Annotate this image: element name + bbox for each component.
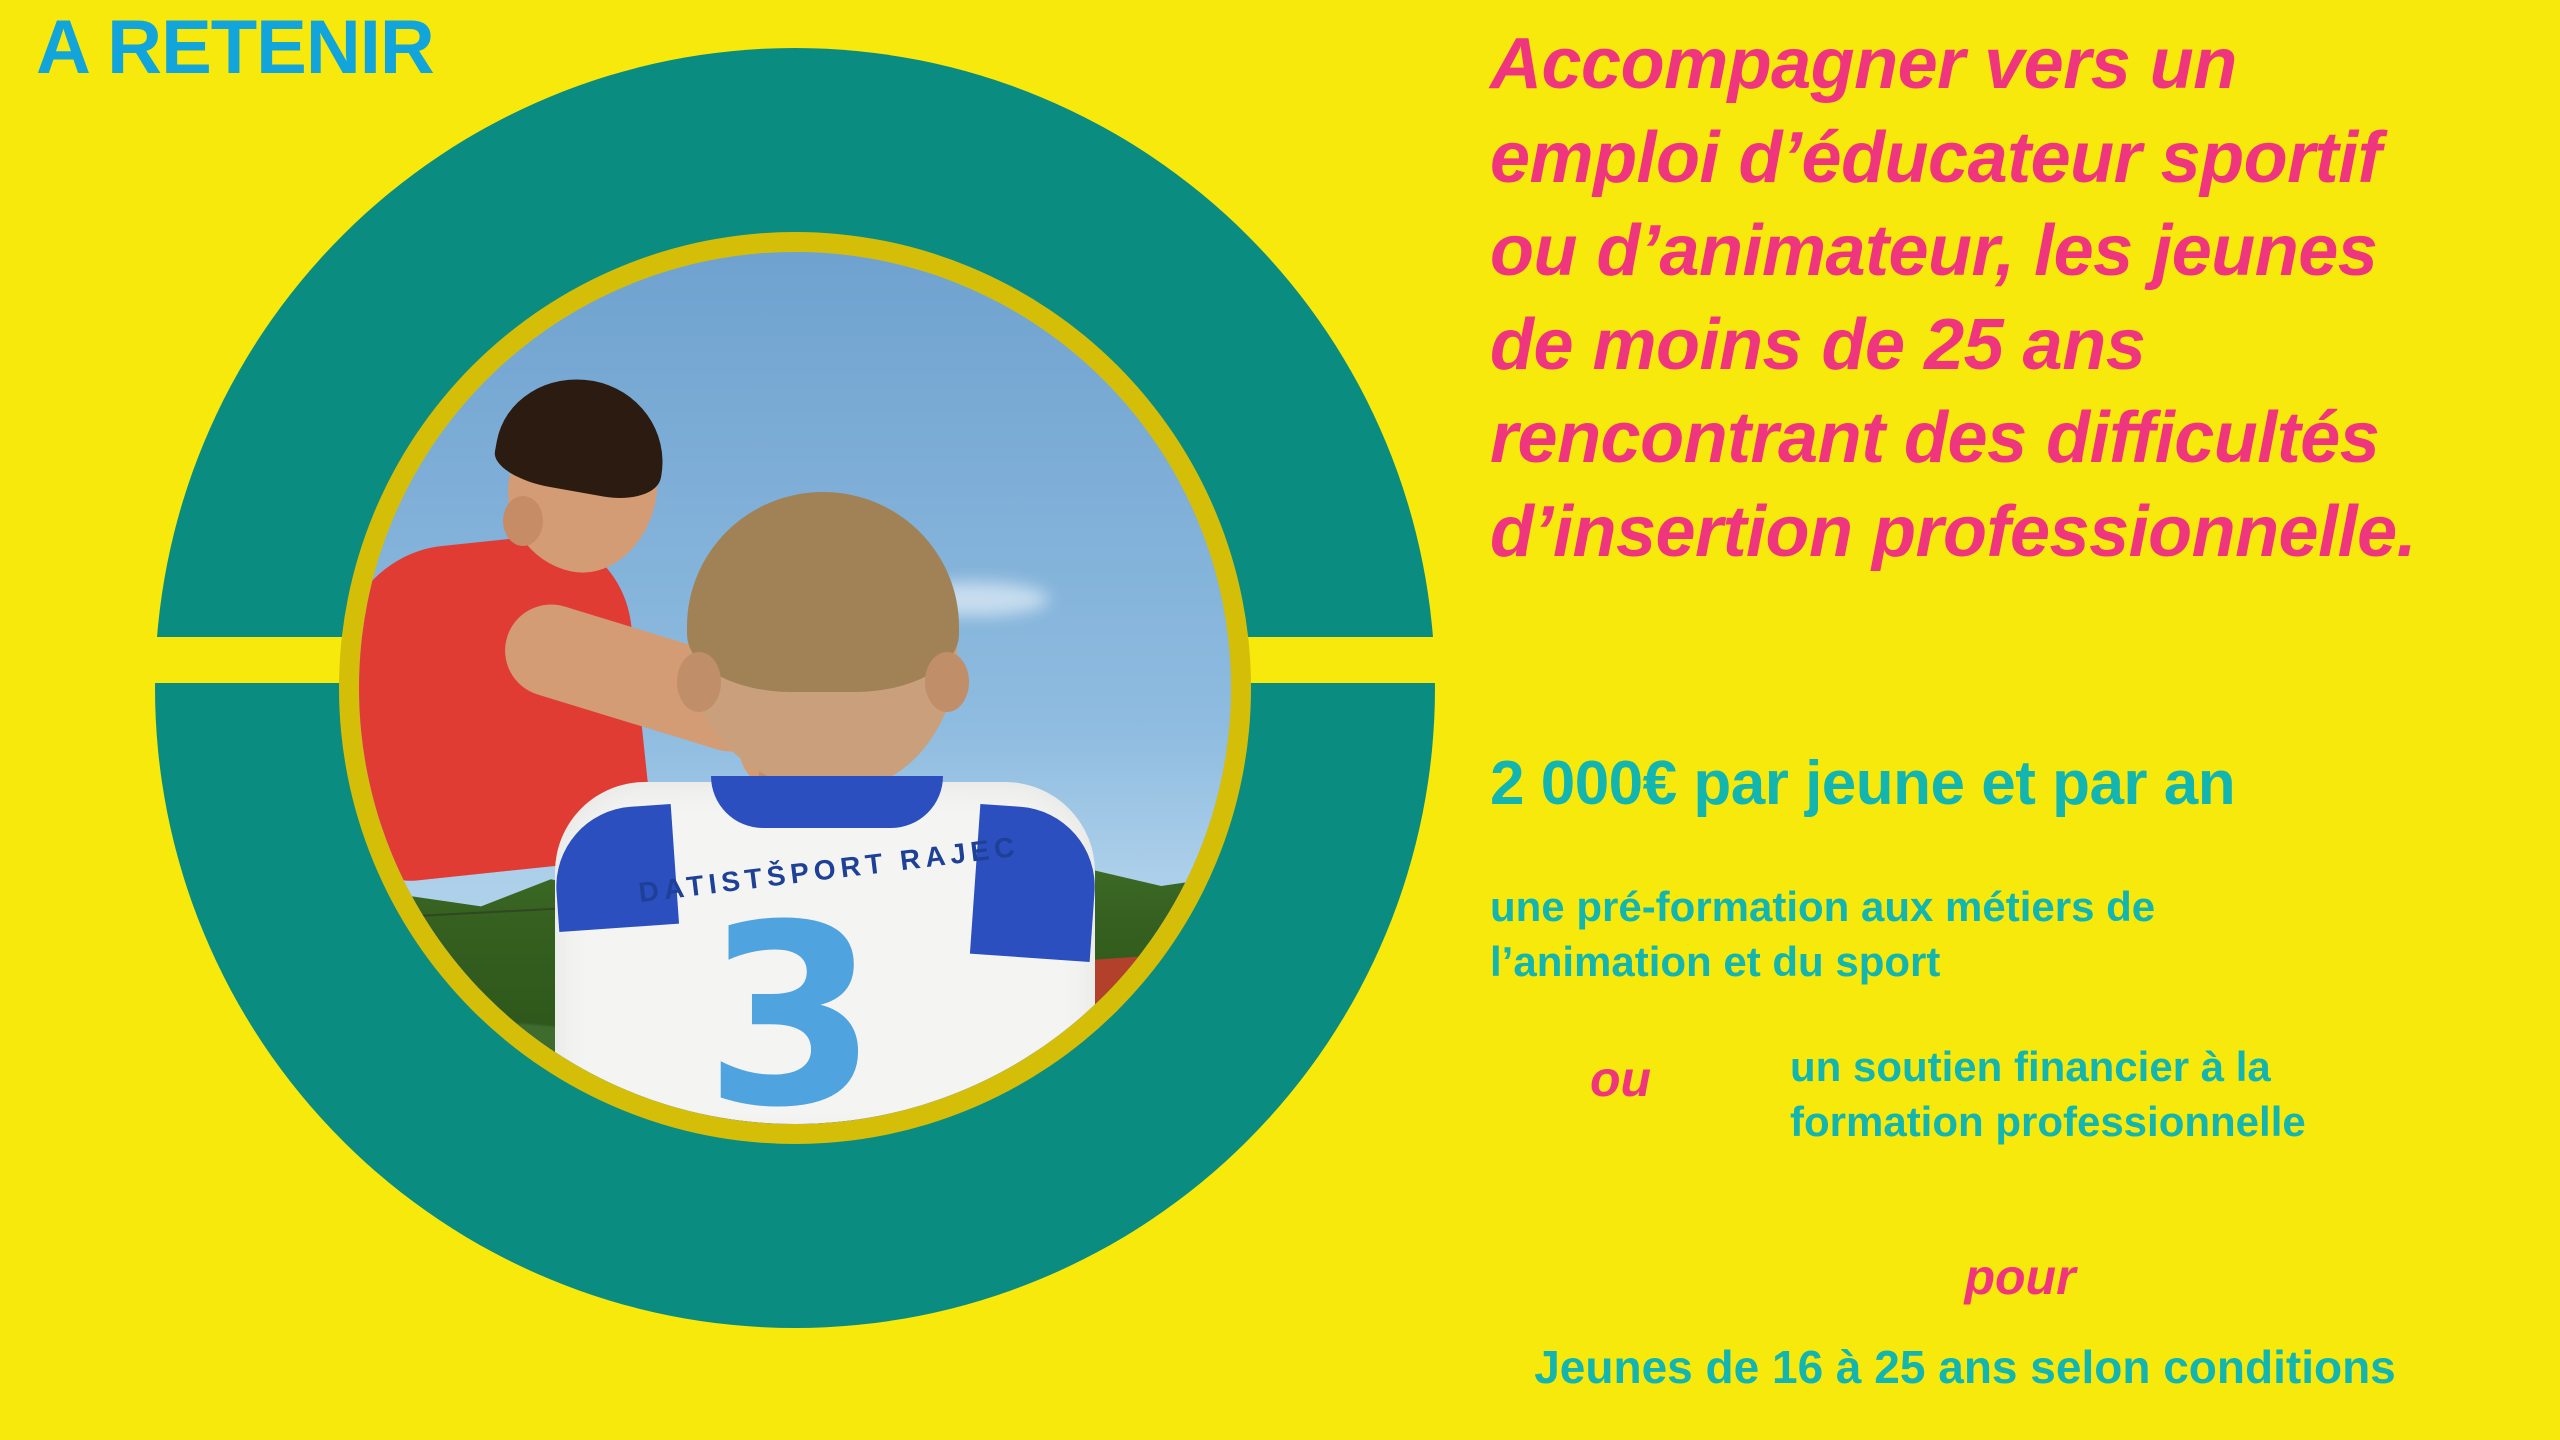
text-column: Accompagner vers un emploi d’éducateur s… (1490, 0, 2550, 1440)
pink-line: d’insertion professionnelle. (1490, 486, 2550, 580)
circular-photo-graphic: 3 DATISTŠPORT RAJEC (155, 48, 1435, 1328)
pink-paragraph: Accompagner vers un emploi d’éducateur s… (1490, 18, 2550, 580)
coach-ear (503, 496, 543, 546)
option-a-text: une pré-formation aux métiers de l’anima… (1490, 880, 2550, 989)
pink-line: Accompagner vers un (1490, 18, 2550, 112)
jersey-collar (711, 776, 943, 828)
poster-root: A RETENIR (0, 0, 2560, 1440)
connector-pour: pour (1490, 1248, 2550, 1306)
pink-line: emploi d’éducateur sportif (1490, 112, 2550, 206)
pink-line: ou d’animateur, les jeunes (1490, 205, 2550, 299)
option-b-text: un soutien financier à la formation prof… (1790, 1040, 2550, 1149)
jersey-number: 3 (704, 892, 878, 1124)
pink-line: de moins de 25 ans (1490, 299, 2550, 393)
option-a-line: une pré-formation aux métiers de (1490, 880, 2550, 935)
pink-line: rencontrant des difficultés (1490, 392, 2550, 486)
option-a-line: l’animation et du sport (1490, 935, 2550, 990)
option-b-line: un soutien financier à la (1790, 1040, 2550, 1095)
amount-headline: 2 000€ par jeune et par an (1490, 748, 2550, 819)
boy-ear-left (677, 652, 721, 712)
ring-gap-right (1235, 637, 1495, 683)
connector-ou: ou (1590, 1050, 1651, 1108)
eligibility-text: Jeunes de 16 à 25 ans selon conditions (1380, 1340, 2550, 1394)
boy-ear-right (925, 652, 969, 712)
photo-circle: 3 DATISTŠPORT RAJEC (359, 252, 1231, 1124)
option-b-line: formation professionnelle (1790, 1095, 2550, 1150)
ring-gap-left (95, 637, 355, 683)
